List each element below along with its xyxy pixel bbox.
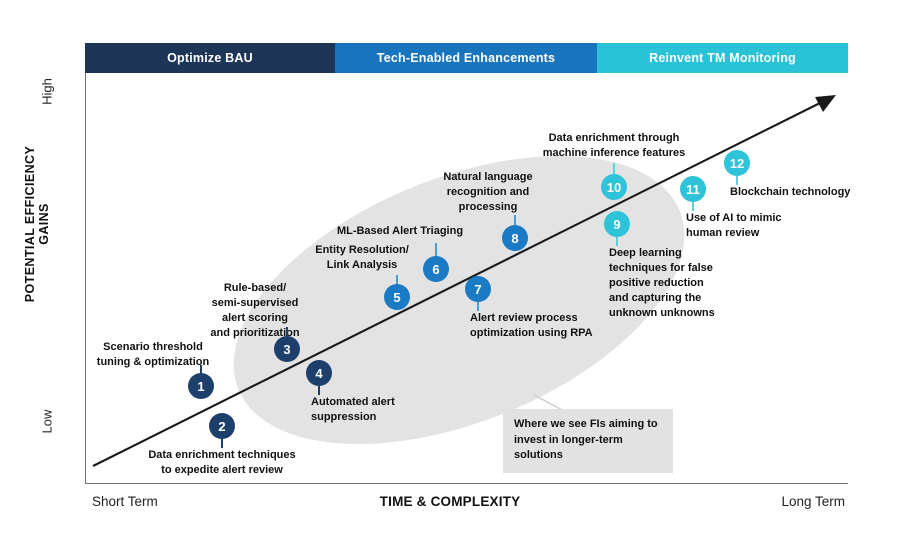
node-10-label-line-2: machine inference features	[489, 146, 739, 161]
node-11-label: Use of AI to mimic human review	[686, 211, 806, 241]
node-5-marker[interactable]: 5	[384, 284, 410, 310]
node-2-number: 2	[218, 419, 225, 434]
node-8-label-line-2: recognition and	[423, 185, 553, 200]
node-6-marker[interactable]: 6	[423, 256, 449, 282]
node-2-stem	[221, 439, 223, 448]
node-9-stem	[616, 237, 618, 246]
node-2-label: Data enrichment techniques to expedite a…	[122, 448, 322, 478]
node-6-number: 6	[432, 262, 439, 277]
node-8-stem	[514, 215, 516, 225]
node-12-stem	[736, 176, 738, 185]
node-6-label-line-1: ML-Based Alert Triaging	[310, 224, 490, 239]
callout-line-1: Where we see FIs aiming to	[514, 417, 664, 433]
node-12-marker[interactable]: 12	[724, 150, 750, 176]
node-8-label-line-1: Natural language	[423, 170, 553, 185]
node-11-label-line-2: human review	[686, 226, 806, 241]
node-9-number: 9	[613, 217, 620, 232]
node-4-marker[interactable]: 4	[306, 360, 332, 386]
node-4-label-line-2: suppression	[311, 410, 441, 425]
node-9-marker[interactable]: 9	[604, 211, 630, 237]
node-9-label-line-3: positive reduction	[609, 276, 734, 291]
node-5-label: Entity Resolution/ Link Analysis	[297, 243, 427, 273]
node-2-label-line-2: to expedite alert review	[122, 463, 322, 478]
node-10-marker[interactable]: 10	[601, 174, 627, 200]
node-7-marker[interactable]: 7	[465, 276, 491, 302]
node-9-label-line-5: unknown unknowns	[609, 306, 734, 321]
callout-box: Where we see FIs aiming to invest in lon…	[503, 409, 673, 473]
node-3-label-line-2: semi-supervised	[190, 296, 320, 311]
x-axis-line	[85, 483, 848, 484]
node-5-label-line-1: Entity Resolution/	[297, 243, 427, 258]
node-1-number: 1	[197, 379, 204, 394]
node-10-label-line-1: Data enrichment through	[489, 131, 739, 146]
node-3-label: Rule-based/ semi-supervised alert scorin…	[190, 281, 320, 341]
node-1-marker[interactable]: 1	[188, 373, 214, 399]
node-5-number: 5	[393, 290, 400, 305]
node-10-stem	[613, 163, 615, 174]
node-11-stem	[692, 202, 694, 211]
node-12-label: Blockchain technology	[730, 185, 890, 200]
node-8-label: Natural language recognition and process…	[423, 170, 553, 215]
node-9-label-line-4: and capturing the	[609, 291, 734, 306]
node-9-label-line-2: techniques for false	[609, 261, 734, 276]
node-3-label-line-4: and prioritization	[190, 326, 320, 341]
node-8-number: 8	[511, 231, 518, 246]
node-4-number: 4	[315, 366, 322, 381]
node-5-label-line-2: Link Analysis	[297, 258, 427, 273]
node-4-stem	[318, 386, 320, 395]
node-7-number: 7	[474, 282, 481, 297]
node-10-label: Data enrichment through machine inferenc…	[489, 131, 739, 161]
node-7-stem	[477, 302, 479, 311]
node-3-label-line-3: alert scoring	[190, 311, 320, 326]
node-9-label: Deep learning techniques for false posit…	[609, 246, 734, 321]
node-3-marker[interactable]: 3	[274, 336, 300, 362]
node-12-number: 12	[730, 156, 744, 171]
node-3-label-line-1: Rule-based/	[190, 281, 320, 296]
node-2-label-line-1: Data enrichment techniques	[122, 448, 322, 463]
node-11-label-line-1: Use of AI to mimic	[686, 211, 806, 226]
node-4-label: Automated alert suppression	[311, 395, 441, 425]
node-3-stem	[286, 327, 288, 336]
node-10-number: 10	[607, 180, 621, 195]
y-axis-line	[85, 73, 86, 483]
node-4-label-line-1: Automated alert	[311, 395, 441, 410]
callout-line-2: invest in longer-term solutions	[514, 433, 664, 464]
y-axis-title: POTENTIAL EFFICIENCY GAINS	[23, 129, 51, 319]
node-8-label-line-3: processing	[423, 200, 553, 215]
node-12-label-line-1: Blockchain technology	[730, 185, 890, 200]
node-1-label: Scenario threshold tuning & optimization	[93, 340, 213, 370]
node-8-marker[interactable]: 8	[502, 225, 528, 251]
node-2-marker[interactable]: 2	[209, 413, 235, 439]
node-1-label-line-2: tuning & optimization	[93, 355, 213, 370]
chart-canvas: Optimize BAU Tech-Enabled Enhancements R…	[0, 0, 900, 553]
node-6-label: ML-Based Alert Triaging	[310, 224, 490, 239]
y-axis-tick-low: Low	[40, 391, 55, 453]
x-axis-tick-long-term: Long Term	[781, 494, 845, 509]
node-7-label-line-2: optimization using RPA	[470, 326, 640, 341]
node-9-label-line-1: Deep learning	[609, 246, 734, 261]
node-3-number: 3	[283, 342, 290, 357]
node-5-stem	[396, 275, 398, 284]
node-11-marker[interactable]: 11	[680, 176, 706, 202]
x-axis-title: TIME & COMPLEXITY	[0, 494, 900, 509]
node-1-label-line-1: Scenario threshold	[93, 340, 213, 355]
node-11-number: 11	[686, 182, 700, 197]
node-6-stem	[435, 243, 437, 256]
y-axis-tick-high: High	[40, 61, 55, 123]
